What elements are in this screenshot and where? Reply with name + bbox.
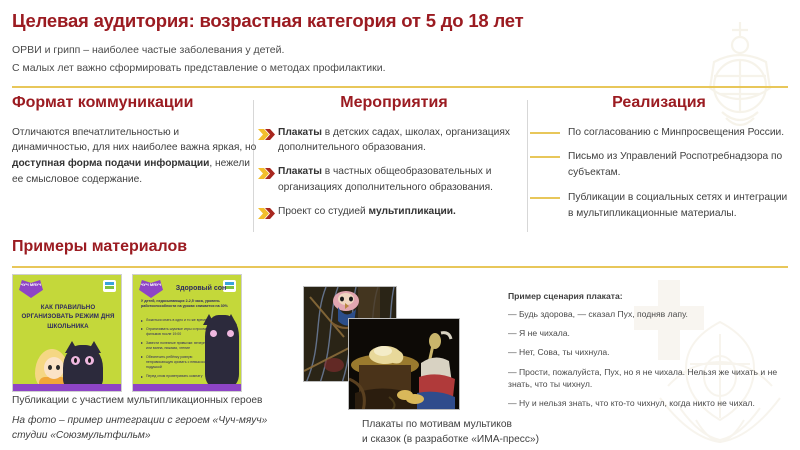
implementation-item-text: По согласованию с Минпросвещения России.: [568, 125, 788, 141]
list-item: Плакаты в частных общеобразовательных и …: [258, 164, 530, 196]
poster-bottom-strip: [133, 384, 242, 391]
events-item-bold: Плакаты: [278, 127, 322, 138]
photo-animation-still-gnome[interactable]: [348, 318, 460, 410]
poster-badge-text: ЧУЧ МЯУЧ: [19, 283, 43, 287]
events-item-rest: Проект со студией: [278, 206, 369, 217]
page-title: Целевая аудитория: возрастная категория …: [12, 10, 523, 32]
caption-photo-line-2: студии «Союзмультфильм»: [12, 430, 151, 441]
column-events: Мероприятия Плакаты в детских садах, шко…: [258, 94, 530, 232]
events-item-text: Проект со студией мультипликации.: [278, 204, 530, 220]
girl-character-eye-right: [56, 365, 60, 370]
caption-posters-line-2: и сказок (в разработке «ИМА-пресс»): [362, 434, 539, 445]
events-item-text: Плакаты в детских садах, школах, организ…: [278, 125, 530, 157]
events-item-bold: Плакаты: [278, 166, 322, 177]
list-item: Плакаты в детских садах, школах, организ…: [258, 125, 530, 157]
double-chevron-arrow-icon: [258, 125, 278, 145]
subtitle-line-2: С малых лет важно сформировать представл…: [12, 62, 385, 74]
poster-badge-text: ЧУЧ МЯУЧ: [139, 283, 163, 287]
cat-character-eye-right: [227, 330, 234, 337]
events-item-text: Плакаты в частных общеобразовательных и …: [278, 164, 530, 196]
events-item-bold-tail: мультипликации.: [369, 206, 456, 217]
examples-divider-rule: [12, 266, 788, 268]
subtitle-line-1: ОРВИ и грипп – наиболее частые заболеван…: [12, 44, 284, 56]
poster-thumbnail-daily-routine[interactable]: ЧУЧ МЯУЧ КАК ПРАВИЛЬНО ОРГАНИЗОВАТЬ РЕЖИ…: [12, 274, 122, 392]
cat-character-body: [205, 315, 239, 387]
list-item: Письмо из Управлений Роспотребнадзора по…: [530, 149, 788, 181]
rospotrebnadzor-icon: [103, 280, 116, 292]
examples-heading: Примеры материалов: [12, 238, 187, 256]
comm-text-before: Отличаются впечатлительностью и динамичн…: [12, 127, 256, 154]
script-box-title: Пример сценария плаката:: [508, 291, 794, 301]
script-example-box: Пример сценария плаката: — Будь здорова,…: [508, 291, 794, 416]
header-divider-rule: [12, 86, 788, 88]
double-chevron-arrow-icon: [258, 204, 278, 224]
column-communication: Формат коммуникации Отличаются впечатлит…: [12, 94, 257, 188]
cat-character-pupil-right: [88, 358, 91, 363]
script-line: — Будь здорова, — сказал Пух, подняв лап…: [508, 308, 794, 320]
script-line: — Ну и нельзя знать, что кто-то чихнул, …: [508, 397, 794, 409]
slide-root: Целевая аудитория: возрастная категория …: [0, 0, 800, 450]
comm-text-bold: доступная форма подачи информации: [12, 158, 209, 169]
column-implementation-heading: Реализация: [530, 94, 788, 112]
girl-character-eye-left: [48, 365, 52, 370]
gold-dash-marker-icon: [530, 197, 560, 199]
column-communication-text: Отличаются впечатлительностью и динамичн…: [12, 125, 257, 188]
caption-photo-line-1: На фото – пример интеграции с героем «Чу…: [12, 415, 267, 426]
gold-dash-marker-icon: [530, 132, 560, 134]
caption-photo-italic: На фото – пример интеграции с героем «Чу…: [12, 414, 322, 444]
implementation-item-text: Публикации в социальных сетях и интеграц…: [568, 190, 788, 222]
list-item: Проект со студией мультипликации.: [258, 204, 530, 224]
implementation-list: По согласованию с Минпросвещения России.…: [530, 125, 788, 222]
script-line: — Я не чихала.: [508, 327, 794, 339]
gold-dash-marker-icon: [530, 156, 560, 158]
three-column-section: Формат коммуникации Отличаются впечатлит…: [0, 94, 800, 234]
girl-character-face: [44, 357, 64, 379]
poster-thumbnail-healthy-sleep[interactable]: ЧУЧ МЯУЧ Здоровый сон У детей, недосыпаю…: [132, 274, 242, 392]
caption-posters: Плакаты по мотивам мультиков и сказок (в…: [362, 418, 562, 448]
caption-publications: Публикации с участием мультипликационных…: [12, 394, 262, 409]
list-item: Публикации в социальных сетях и интеграц…: [530, 190, 788, 222]
poster-title: КАК ПРАВИЛЬНО ОРГАНИЗОВАТЬ РЕЖИМ ДНЯ ШКО…: [19, 303, 117, 331]
cat-character-eye-left: [210, 330, 217, 337]
script-line: — Нет, Сова, ты чихнула.: [508, 346, 794, 358]
column-communication-heading: Формат коммуникации: [12, 94, 257, 112]
poster-title: Здоровый сон: [163, 285, 239, 292]
list-item: По согласованию с Минпросвещения России.: [530, 125, 788, 141]
script-line: — Прости, пожалуйста, Пух, но я не чихал…: [508, 366, 794, 390]
column-implementation: Реализация По согласованию с Минпросвеще…: [530, 94, 788, 231]
caption-posters-line-1: Плакаты по мотивам мультиков: [362, 419, 512, 430]
implementation-item-text: Письмо из Управлений Роспотребнадзора по…: [568, 149, 788, 181]
double-chevron-arrow-icon: [258, 164, 278, 184]
cat-character-pupil-left: [74, 358, 77, 363]
poster-lead-text: У детей, недосыпающих 2-2,5 часа, уровен…: [141, 299, 235, 309]
poster-bottom-strip: [13, 384, 122, 391]
events-bullet-list: Плакаты в детских садах, школах, организ…: [258, 125, 530, 224]
column-events-heading: Мероприятия: [258, 94, 530, 112]
